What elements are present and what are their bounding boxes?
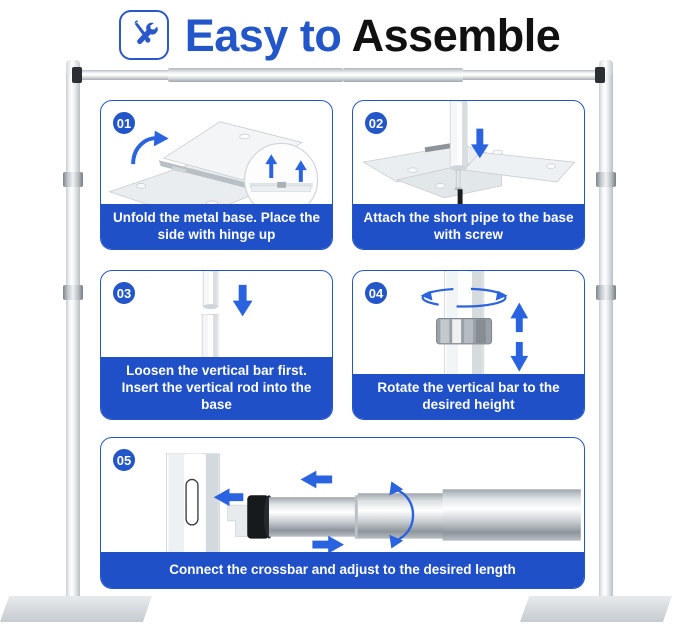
collar-left-lower <box>63 285 83 300</box>
crossbar-segment-a <box>168 68 343 82</box>
step-number-badge: 04 <box>363 280 389 306</box>
collar-right-lower <box>596 285 616 300</box>
step-card-01: 01 Unfold the metal base. <box>100 100 333 250</box>
step-number-badge: 01 <box>111 110 137 136</box>
step-number-badge: 02 <box>363 110 389 136</box>
collar-left-upper <box>63 172 83 187</box>
vertical-pole-left <box>66 63 80 609</box>
step-caption: Rotate the vertical bar to the desired h… <box>353 374 584 419</box>
step-number-badge: 05 <box>111 447 137 473</box>
step-card-02: 02 Attach the shor <box>352 100 585 250</box>
crossbar-segment-b <box>343 68 463 82</box>
step-caption: Connect the crossbar and adjust to the d… <box>101 552 584 588</box>
vertical-pole-right <box>599 63 613 609</box>
crossbar-end-cap-left <box>72 67 82 83</box>
step-caption: Attach the short pipe to the base with s… <box>353 204 584 249</box>
step-card-04: 04 Rotate the vertical bar to the desir <box>352 270 585 420</box>
step-card-05: 05 <box>100 437 585 589</box>
base-plate-right <box>520 596 672 622</box>
step-number-badge: 03 <box>111 280 137 306</box>
step-card-03: 03 Loosen the vertical bar first. Insert… <box>100 270 333 420</box>
crossbar-end-cap-right <box>595 67 605 83</box>
step-caption: Loosen the vertical bar first. Insert th… <box>101 357 332 419</box>
collar-right-upper <box>596 172 616 187</box>
step-caption: Unfold the metal base. Place the side wi… <box>101 204 332 249</box>
instruction-sheet: Easy to Assemble 01 <box>0 0 679 632</box>
base-plate-left <box>0 596 152 622</box>
